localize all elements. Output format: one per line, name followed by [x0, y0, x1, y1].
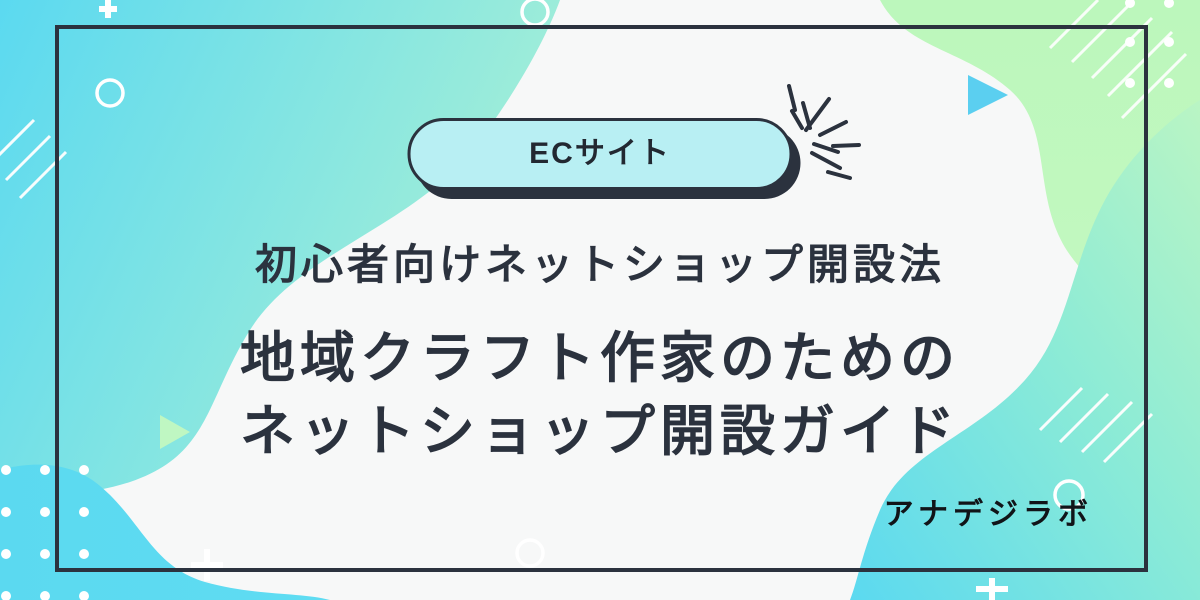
content-area: ECサイト 初心者向けネットショップ開設法 地域クラフト作家のための ネットショ…	[0, 0, 1200, 600]
banner-title: 地域クラフト作家のための ネットショップ開設ガイド	[240, 322, 960, 467]
banner-subtitle: 初心者向けネットショップ開設法	[255, 240, 945, 290]
banner-canvas: ECサイト 初心者向けネットショップ開設法 地域クラフト作家のための ネットショ…	[0, 0, 1200, 600]
badge-pill: ECサイト	[408, 118, 793, 190]
banner-title-line-2: ネットショップ開設ガイド	[240, 395, 960, 468]
brand-name: アナデジラボ	[884, 500, 1093, 530]
category-badge: ECサイト	[408, 118, 793, 190]
badge-label: ECサイト	[529, 139, 671, 169]
banner-title-line-1: 地域クラフト作家のための	[240, 322, 960, 395]
